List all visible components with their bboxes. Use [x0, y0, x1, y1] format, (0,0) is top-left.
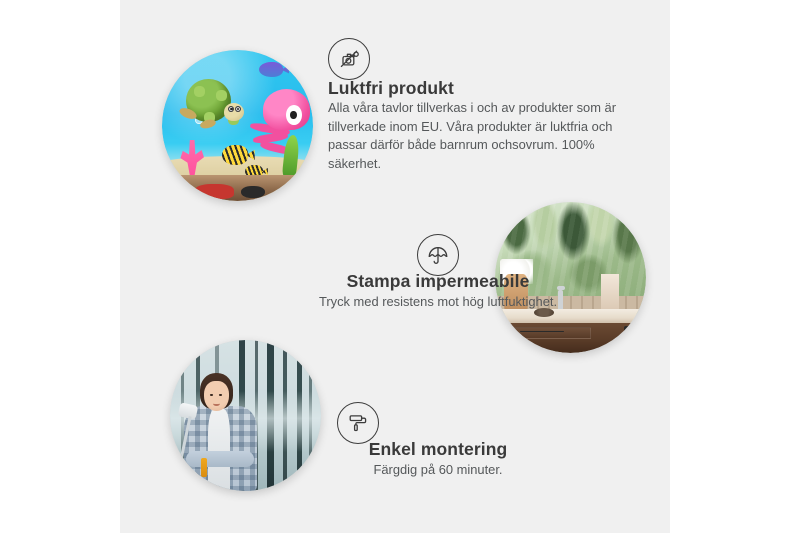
feature-body-waterproof-print: Tryck med resistens mot hög luftfuktighe… — [218, 293, 658, 312]
feature-body-easy-installation: Färgdig på 60 minuter. — [258, 461, 618, 480]
feature-title-easy-installation: Enkel montering — [258, 439, 618, 460]
sea-turtle-icon — [182, 79, 242, 133]
feature-title-odour-free: Luktfri produkt — [328, 78, 454, 99]
content-panel: Luktfri produkt Alla våra tavlor tillver… — [120, 0, 670, 533]
feature-body-odour-free: Alla våra tavlor tillverkas i och av pro… — [328, 99, 624, 173]
octopus-icon — [250, 89, 310, 155]
installer-woman-icon — [179, 373, 261, 491]
seabed-strip — [162, 175, 313, 201]
yellow-fish-icon — [222, 145, 248, 165]
product-benefits-infographic: Luktfri produkt Alla våra tavlor tillver… — [0, 0, 800, 533]
paint-roller-icon — [337, 402, 379, 444]
purple-fish-icon — [259, 62, 283, 77]
underwater-kids-mural-photo — [162, 50, 313, 201]
vanity-cabinet — [498, 323, 646, 353]
feature-title-waterproof-print: Stampa impermeabile — [258, 271, 618, 292]
umbrella-icon — [417, 234, 459, 276]
no-fragrance-bottle-icon — [328, 38, 370, 80]
